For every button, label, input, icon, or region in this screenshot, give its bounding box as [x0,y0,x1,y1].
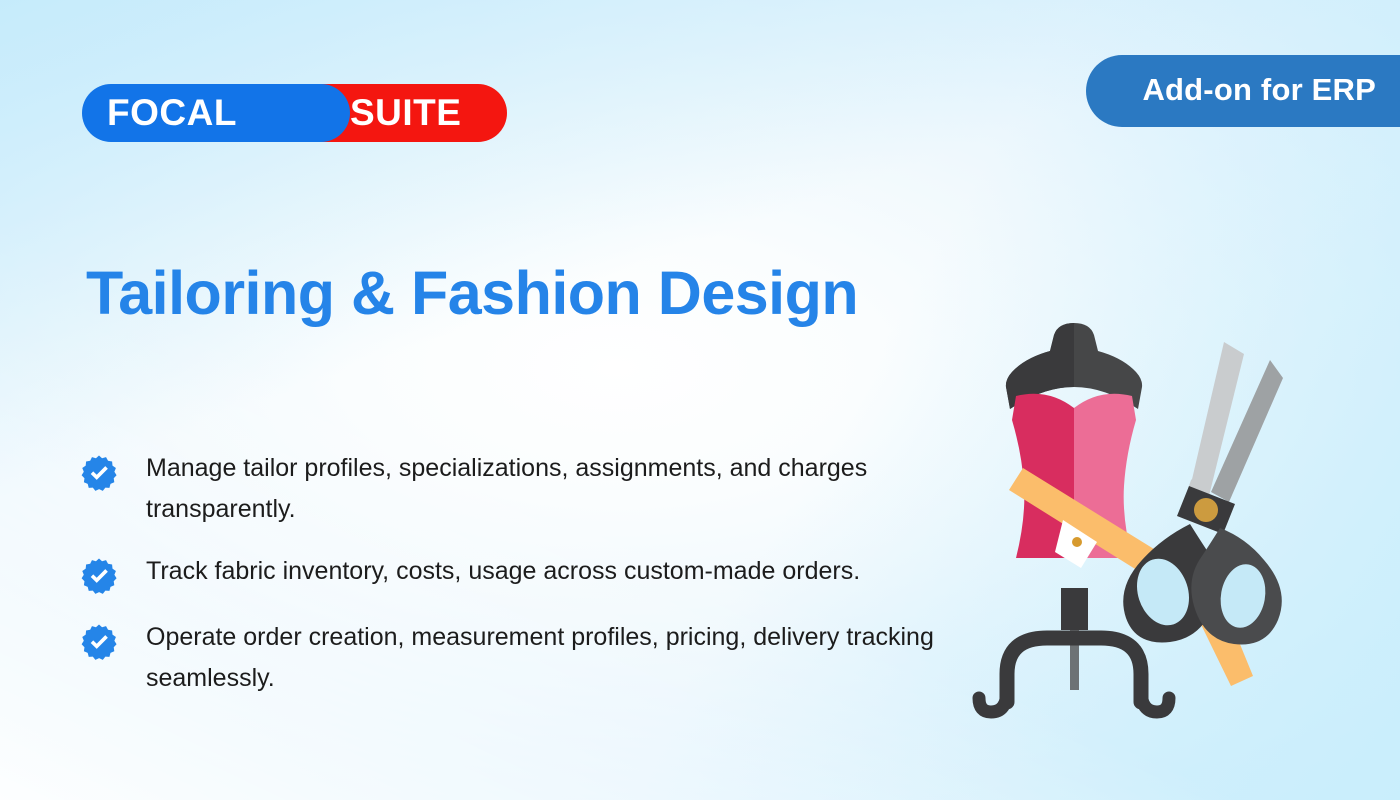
check-badge-icon [80,454,118,492]
list-item: Track fabric inventory, costs, usage acr… [80,551,940,595]
page-title: Tailoring & Fashion Design [86,258,858,328]
list-item-label: Operate order creation, measurement prof… [146,617,936,698]
scissor-screw-icon [1194,498,1218,522]
list-item: Manage tailor profiles, specializations,… [80,448,940,529]
feature-list: Manage tailor profiles, specializations,… [80,448,940,698]
logo-text-suite: SUITE [350,84,461,142]
addon-badge[interactable]: Add-on for ERP [1086,55,1400,127]
mannequin-pole-collar [1061,588,1088,630]
tape-tip-ring-inner [1072,537,1082,547]
list-item-label: Track fabric inventory, costs, usage acr… [146,551,860,592]
mannequin-foot-right [1141,690,1169,712]
tailoring-illustration [985,320,1330,720]
check-badge-icon [80,557,118,595]
check-badge-icon [80,623,118,661]
slide-canvas: FOCAL SUITE Add-on for ERP Tailoring & F… [0,0,1400,800]
mannequin-foot-left [979,690,1007,712]
list-item: Operate order creation, measurement prof… [80,617,940,698]
logo-text-focal: FOCAL [107,84,237,142]
list-item-label: Manage tailor profiles, specializations,… [146,448,936,529]
